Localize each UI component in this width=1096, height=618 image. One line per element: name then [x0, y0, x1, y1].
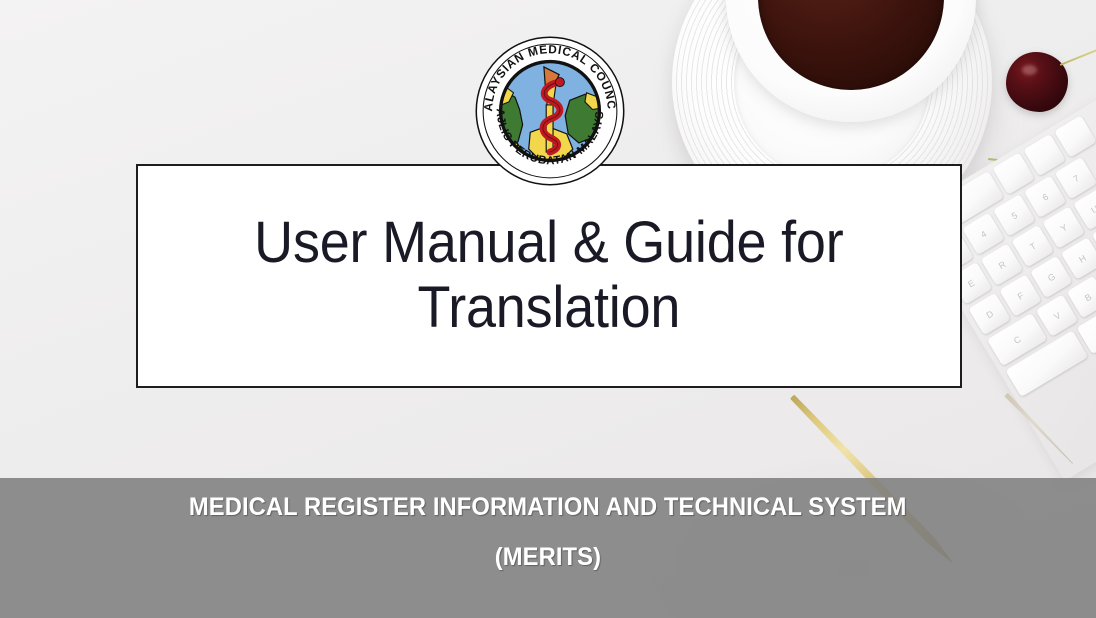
- slide-canvas: 3 4 5 6 7 E R T Y U D F G H J C: [0, 0, 1096, 618]
- system-name-line-1: MEDICAL REGISTER INFORMATION AND TECHNIC…: [189, 495, 907, 520]
- page-title: User Manual & Guide forTranslation: [228, 211, 869, 341]
- cherry-fruit: [1006, 52, 1068, 112]
- page-title-line-2: Translation: [418, 275, 681, 340]
- page-title-line-1: User Manual & Guide for: [254, 210, 843, 275]
- cherry-stem: [1060, 44, 1096, 66]
- title-card: User Manual & Guide forTranslation: [136, 164, 962, 388]
- coffee-liquid: [758, 0, 944, 90]
- cherry-highlight: [1022, 65, 1037, 75]
- system-acronym: (MERITS): [495, 545, 601, 570]
- footer-banner: MEDICAL REGISTER INFORMATION AND TECHNIC…: [0, 478, 1096, 618]
- malaysian-medical-council-logo: MALAYSIAN MEDICAL COUNCIL MAJLIS PERUBAT…: [474, 35, 626, 187]
